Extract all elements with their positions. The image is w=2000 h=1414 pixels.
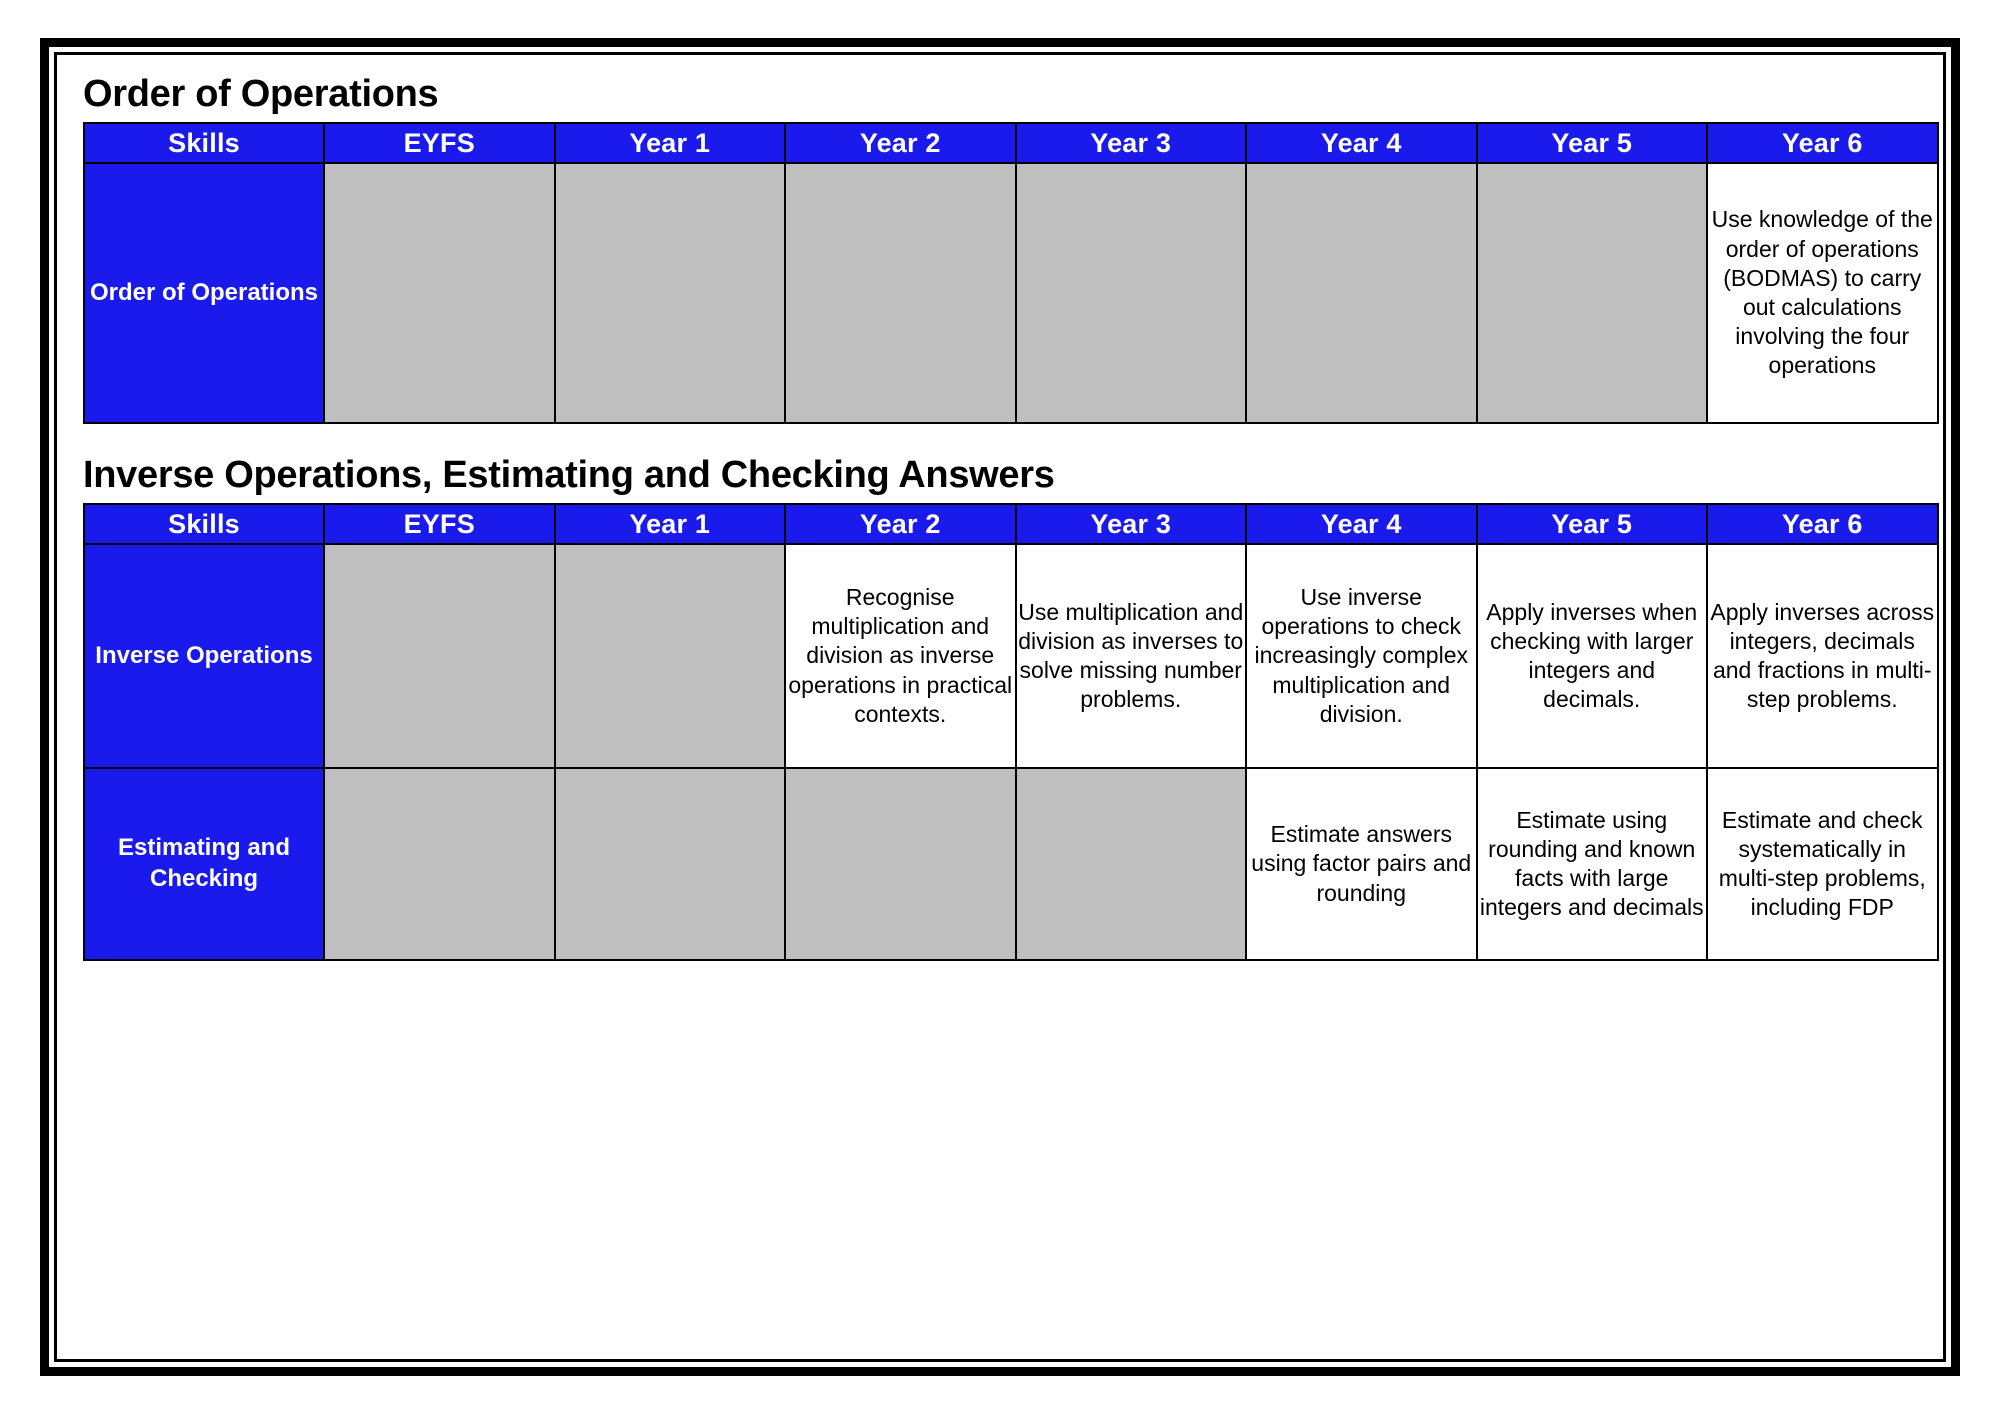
column-header-year-1: Year 1 [555, 504, 786, 544]
column-header-year-6: Year 6 [1707, 123, 1938, 163]
column-header-eyfs: EYFS [324, 504, 555, 544]
cell-year-5: Apply inverses when checking with larger… [1477, 544, 1708, 768]
cell-year-6: Use knowledge of the order of operations… [1707, 163, 1938, 423]
document-body: Order of Operations Skills EYFS Year 1 Y… [57, 55, 1943, 1359]
cell-year-2 [785, 768, 1016, 960]
column-header-year-2: Year 2 [785, 123, 1016, 163]
column-header-year-5: Year 5 [1477, 123, 1708, 163]
table-header-row: Skills EYFS Year 1 Year 2 Year 3 Year 4 … [84, 123, 1938, 163]
column-header-skills: Skills [84, 504, 324, 544]
cell-year-1 [555, 163, 786, 423]
table-header-row: Skills EYFS Year 1 Year 2 Year 3 Year 4 … [84, 504, 1938, 544]
cell-year-6: Apply inverses across integers, decimals… [1707, 544, 1938, 768]
section-title: Inverse Operations, Estimating and Check… [83, 456, 1917, 494]
column-header-year-2: Year 2 [785, 504, 1016, 544]
progression-table-order-of-operations: Skills EYFS Year 1 Year 2 Year 3 Year 4 … [83, 122, 1939, 424]
column-header-year-4: Year 4 [1246, 123, 1477, 163]
cell-year-5: Estimate using rounding and known facts … [1477, 768, 1708, 960]
table-row: Estimating and Checking Estimate answers… [84, 768, 1938, 960]
skill-label: Estimating and Checking [84, 768, 324, 960]
column-header-year-3: Year 3 [1016, 504, 1247, 544]
cell-year-4: Use inverse operations to check increasi… [1246, 544, 1477, 768]
section-inverse-operations: Inverse Operations, Estimating and Check… [83, 456, 1917, 961]
cell-eyfs [324, 163, 555, 423]
section-title: Order of Operations [83, 75, 1917, 113]
cell-year-4: Estimate answers using factor pairs and … [1246, 768, 1477, 960]
column-header-year-1: Year 1 [555, 123, 786, 163]
progression-table-inverse-operations: Skills EYFS Year 1 Year 2 Year 3 Year 4 … [83, 503, 1939, 961]
cell-year-5 [1477, 163, 1708, 423]
cell-year-6: Estimate and check systematically in mul… [1707, 768, 1938, 960]
cell-year-3: Use multiplication and division as inver… [1016, 544, 1247, 768]
cell-year-3 [1016, 163, 1247, 423]
cell-year-2: Recognise multiplication and division as… [785, 544, 1016, 768]
column-header-year-5: Year 5 [1477, 504, 1708, 544]
table-row: Inverse Operations Recognise multiplicat… [84, 544, 1938, 768]
cell-year-4 [1246, 163, 1477, 423]
column-header-year-3: Year 3 [1016, 123, 1247, 163]
cell-year-2 [785, 163, 1016, 423]
skill-label: Order of Operations [84, 163, 324, 423]
cell-eyfs [324, 768, 555, 960]
column-header-year-6: Year 6 [1707, 504, 1938, 544]
column-header-skills: Skills [84, 123, 324, 163]
page-border-outer: Order of Operations Skills EYFS Year 1 Y… [40, 38, 1960, 1376]
skill-label: Inverse Operations [84, 544, 324, 768]
page-border-inner: Order of Operations Skills EYFS Year 1 Y… [54, 52, 1946, 1362]
cell-eyfs [324, 544, 555, 768]
cell-year-3 [1016, 768, 1247, 960]
column-header-year-4: Year 4 [1246, 504, 1477, 544]
cell-year-1 [555, 768, 786, 960]
column-header-eyfs: EYFS [324, 123, 555, 163]
table-row: Order of Operations Use knowledge of the… [84, 163, 1938, 423]
section-order-of-operations: Order of Operations Skills EYFS Year 1 Y… [83, 75, 1917, 424]
cell-year-1 [555, 544, 786, 768]
